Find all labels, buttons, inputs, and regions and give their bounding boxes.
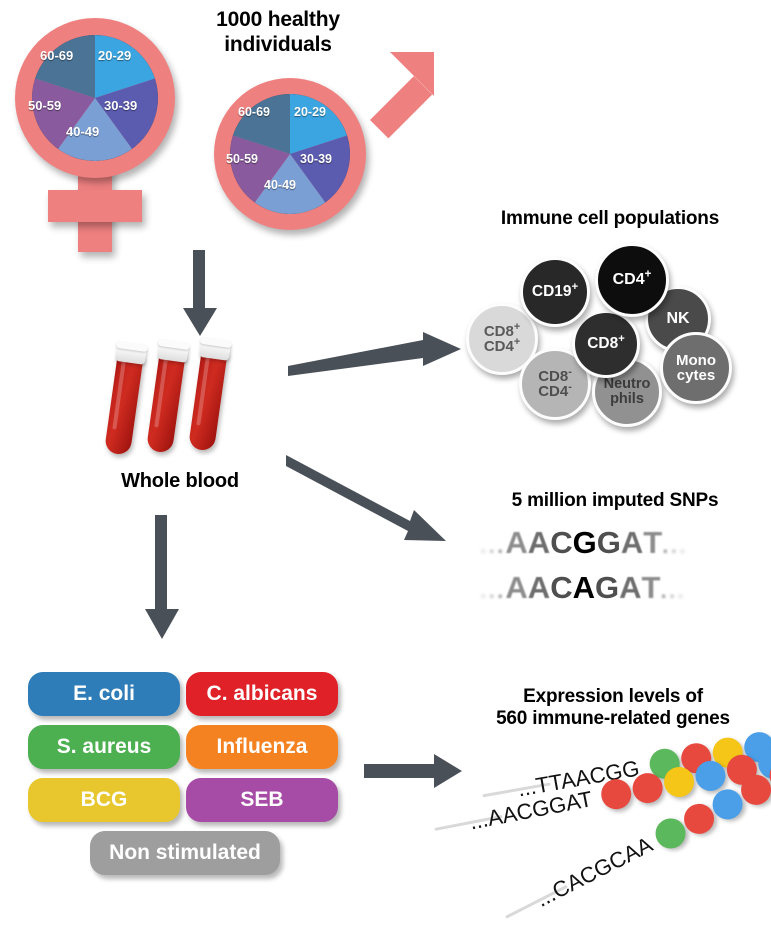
rna-strands-group: ...TTAACGG ...AACGGAT ...CACGCAA: [0, 0, 771, 922]
rna-sequence-text: ...CACGCAA: [532, 832, 657, 913]
rna-bead-red: [630, 770, 665, 805]
figure-canvas: 1000 healthy individuals 20-29 30-39 40-…: [0, 0, 771, 922]
rna-bead-red: [599, 777, 634, 812]
rna-bead-yellow: [661, 764, 696, 799]
rna-bead-blue: [693, 758, 728, 793]
